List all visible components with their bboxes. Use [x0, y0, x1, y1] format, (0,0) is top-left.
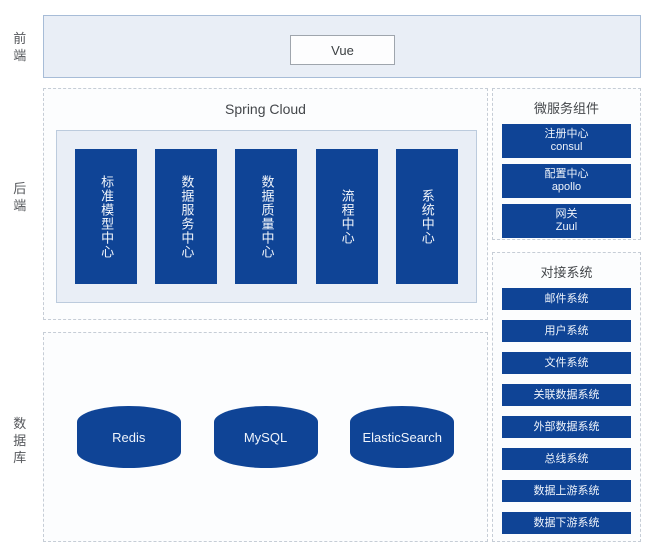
microservice-component-name: 注册中心 [545, 128, 589, 140]
service-center-row: 标准模型中心 数据服务中心 数据质量中心 流程中心 系统中心 [57, 131, 476, 302]
integration-system-item[interactable]: 数据下游系统 [502, 512, 631, 534]
microservice-components-list: 注册中心 consul 配置中心 apollo 网关 Zuul [493, 124, 640, 238]
database-store-row: Redis MySQL ElasticSearch [44, 333, 487, 541]
service-center-box[interactable]: 流程中心 [316, 149, 378, 284]
microservice-component-name: 配置中心 [545, 168, 589, 180]
microservice-component-tech: Zuul [502, 221, 631, 234]
database-cylinder[interactable]: Redis [77, 406, 181, 468]
microservice-component-item[interactable]: 配置中心 apollo [502, 164, 631, 198]
database-cylinder[interactable]: ElasticSearch [350, 406, 454, 468]
integration-system-item[interactable]: 数据上游系统 [502, 480, 631, 502]
frontend-layer-panel: Vue [43, 15, 641, 78]
microservice-components-panel: 微服务组件 注册中心 consul 配置中心 apollo 网关 Zuul [492, 88, 641, 240]
database-layer-panel: Redis MySQL ElasticSearch [43, 332, 488, 542]
integration-system-item[interactable]: 外部数据系统 [502, 416, 631, 438]
vue-framework-box[interactable]: Vue [290, 35, 395, 65]
row-label-backend-char-1: 后 [0, 180, 40, 197]
service-center-box[interactable]: 数据服务中心 [155, 149, 217, 284]
spring-cloud-inner-panel: 标准模型中心 数据服务中心 数据质量中心 流程中心 系统中心 [56, 130, 477, 303]
microservice-component-tech: apollo [502, 181, 631, 194]
microservice-component-tech: consul [502, 141, 631, 154]
service-center-box[interactable]: 数据质量中心 [235, 149, 297, 284]
row-label-frontend-char-1: 前 [0, 30, 40, 47]
integration-system-item[interactable]: 关联数据系统 [502, 384, 631, 406]
integration-system-item[interactable]: 邮件系统 [502, 288, 631, 310]
row-label-database-char-3: 库 [0, 449, 40, 466]
spring-cloud-panel: Spring Cloud 标准模型中心 数据服务中心 数据质量中心 流程中心 系… [43, 88, 488, 320]
service-center-box[interactable]: 标准模型中心 [75, 149, 137, 284]
row-label-database: 数 据 库 [0, 415, 40, 466]
integration-systems-title: 对接系统 [493, 253, 640, 288]
architecture-diagram: 前 端 后 端 数 据 库 Vue Spring Cloud 标准模型中心 数据… [0, 0, 656, 558]
database-cylinder-label: Redis [112, 430, 145, 445]
microservice-components-title: 微服务组件 [493, 89, 640, 124]
integration-system-item[interactable]: 文件系统 [502, 352, 631, 374]
integration-system-item[interactable]: 总线系统 [502, 448, 631, 470]
microservice-component-item[interactable]: 注册中心 consul [502, 124, 631, 158]
row-label-backend: 后 端 [0, 180, 40, 214]
database-cylinder-label: MySQL [244, 430, 287, 445]
row-label-database-char-2: 据 [0, 432, 40, 449]
microservice-component-name: 网关 [556, 208, 578, 220]
integration-systems-list: 邮件系统 用户系统 文件系统 关联数据系统 外部数据系统 总线系统 数据上游系统… [493, 288, 640, 534]
database-cylinder-label: ElasticSearch [363, 430, 442, 445]
integration-systems-panel: 对接系统 邮件系统 用户系统 文件系统 关联数据系统 外部数据系统 总线系统 数… [492, 252, 641, 542]
service-center-box[interactable]: 系统中心 [396, 149, 458, 284]
microservice-component-item[interactable]: 网关 Zuul [502, 204, 631, 238]
row-label-frontend-char-2: 端 [0, 47, 40, 64]
database-cylinder[interactable]: MySQL [214, 406, 318, 468]
row-label-database-char-1: 数 [0, 415, 40, 432]
integration-system-item[interactable]: 用户系统 [502, 320, 631, 342]
row-label-backend-char-2: 端 [0, 197, 40, 214]
spring-cloud-title: Spring Cloud [44, 101, 487, 117]
row-label-frontend: 前 端 [0, 30, 40, 64]
